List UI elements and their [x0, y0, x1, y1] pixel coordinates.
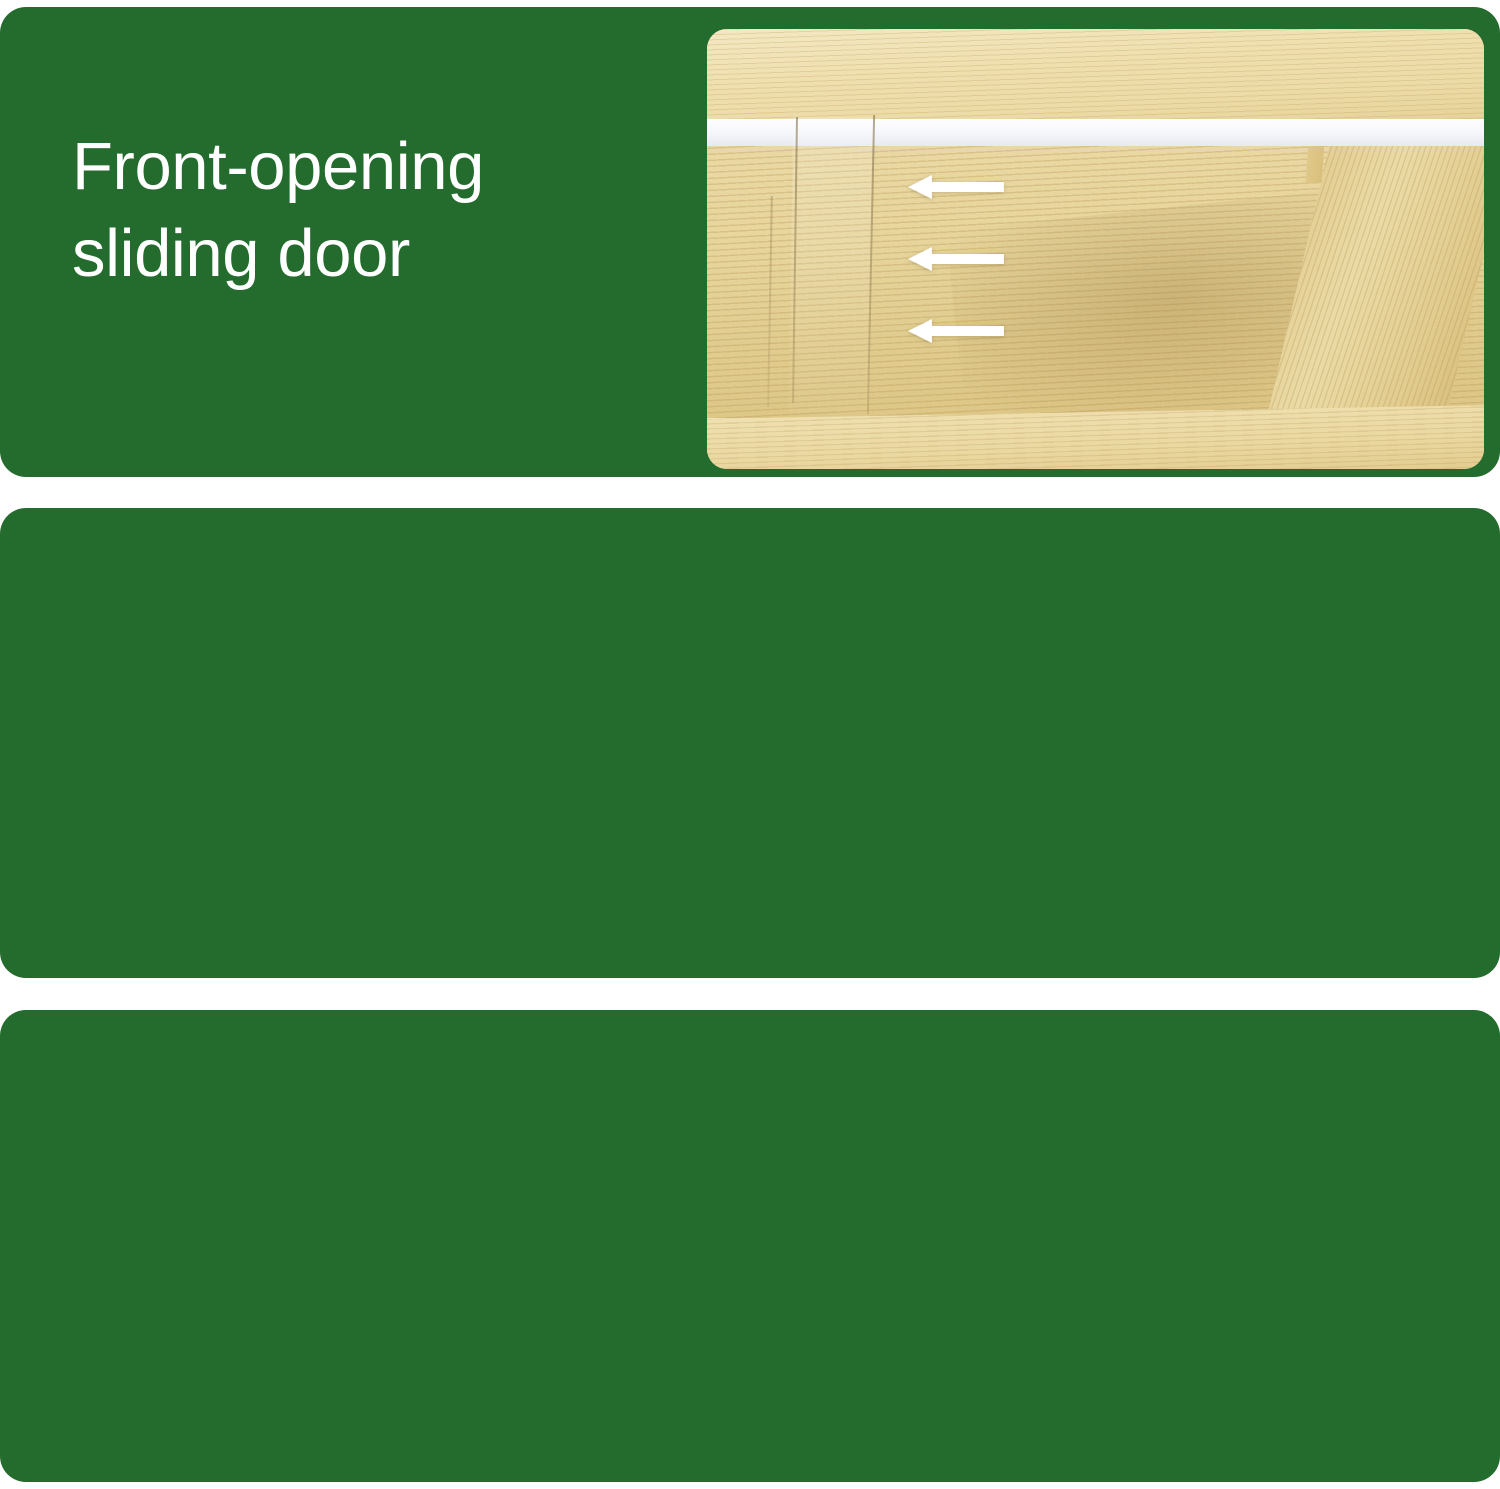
panel-1-caption: Front-opening sliding door — [72, 123, 672, 297]
slide-direction-arrows — [886, 174, 1026, 359]
product-feature-infographic: Front-opening sliding door — [0, 0, 1500, 1489]
panel-1-photo — [707, 29, 1484, 469]
sliding-door-box-image — [707, 29, 1484, 469]
feature-panel-thickened-material: Thickened material, stable structure — [0, 1010, 1500, 1482]
box-top-rail — [707, 29, 1484, 119]
arrow-left-icon — [886, 318, 1026, 344]
feature-panel-removable-bottom: Removable clear bottom panel, moisture-p… — [0, 508, 1500, 978]
sliding-door-panel — [789, 116, 874, 412]
arrow-left-icon — [886, 246, 1026, 272]
arrow-left-icon — [886, 174, 1026, 200]
feature-panel-sliding-door: Front-opening sliding door — [0, 7, 1500, 477]
